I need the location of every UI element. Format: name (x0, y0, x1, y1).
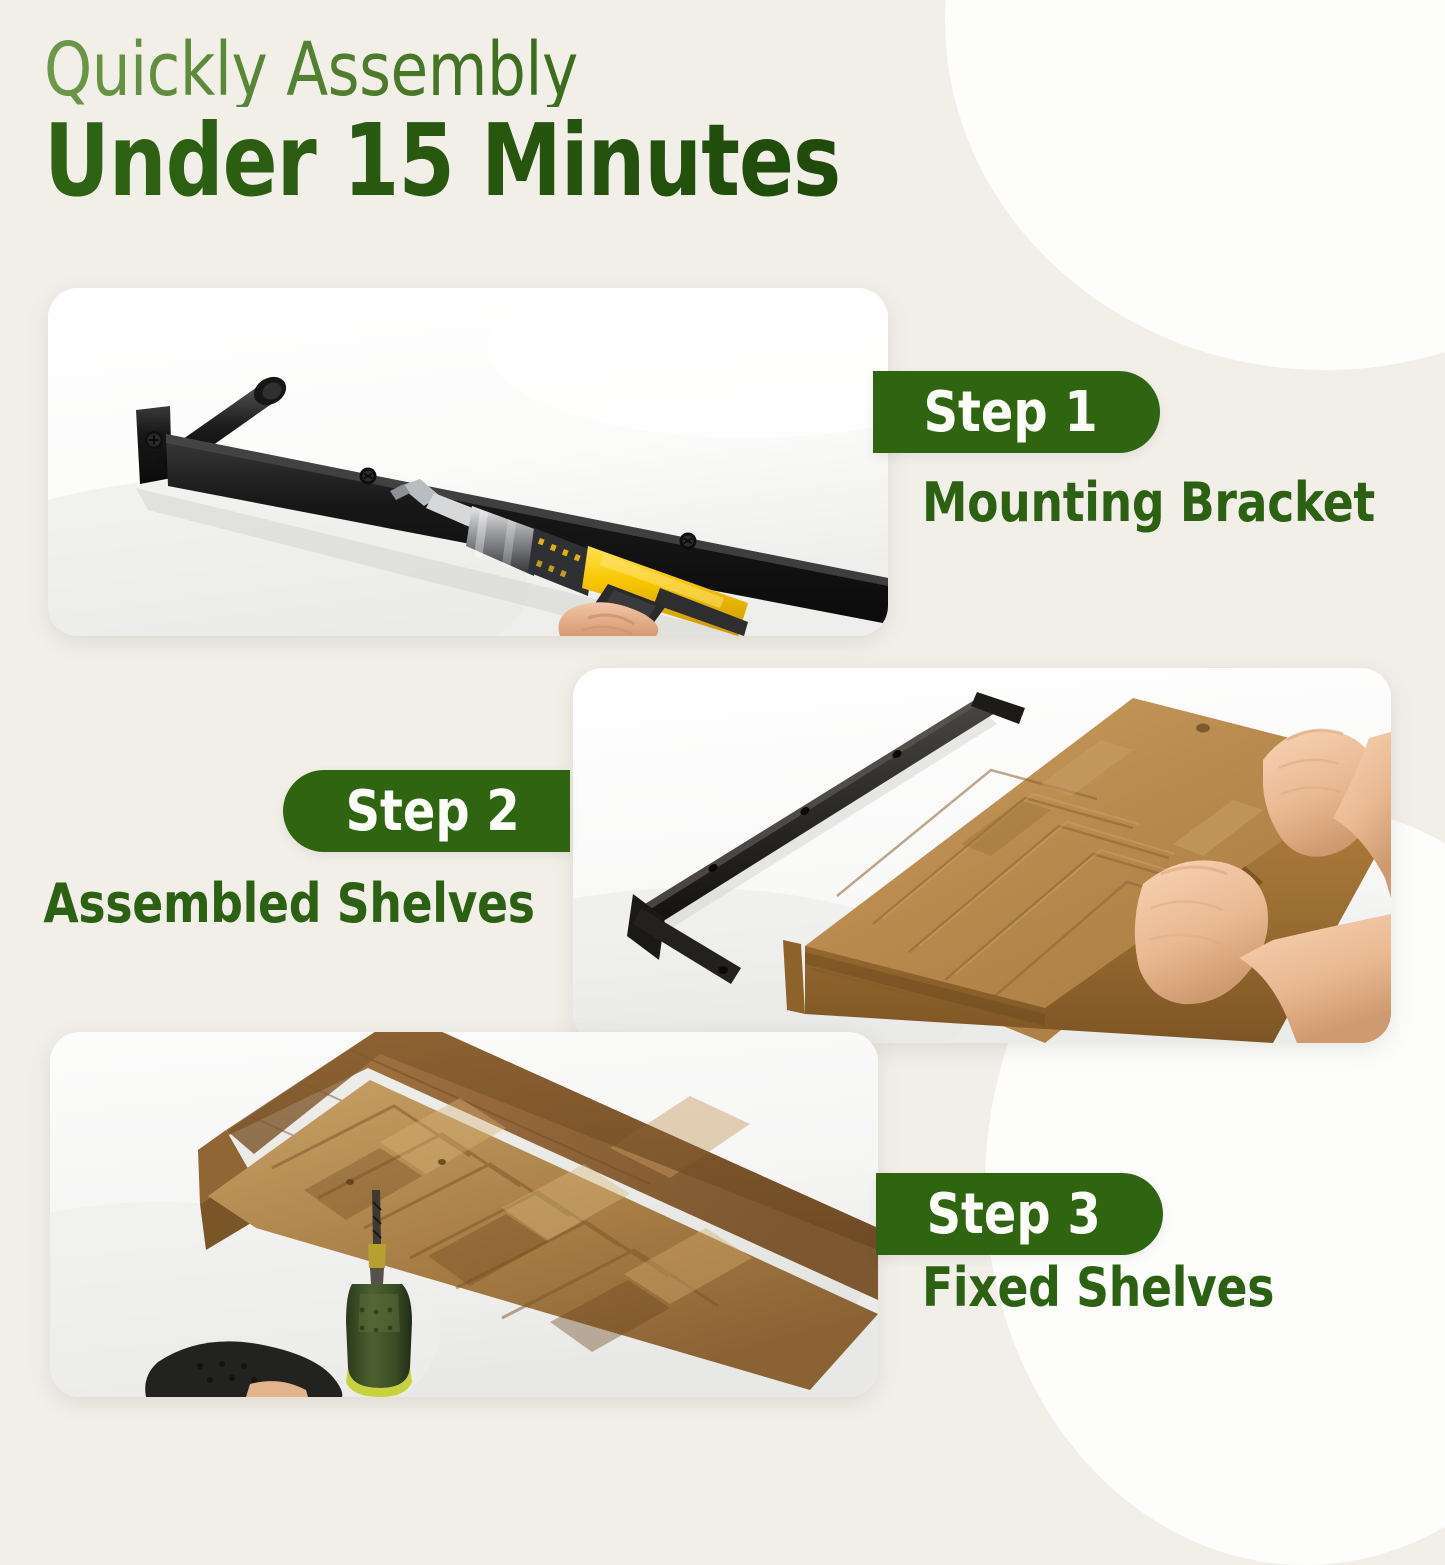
photo-mounting-bracket-with-drill (48, 288, 888, 636)
page-title: Under 15 Minutes (44, 113, 840, 209)
step-3-badge: Step 3 (876, 1173, 1163, 1255)
page-subtitle: Quickly Assembly (44, 34, 858, 107)
step-1-caption: Mounting Bracket (922, 471, 1375, 534)
photo-fixed-shelf-underside (50, 1032, 878, 1397)
step-3-badge-label: Step 3 (927, 1182, 1101, 1247)
photo-assembled-shelf-on-bracket (573, 668, 1391, 1043)
step-3-image-card (50, 1032, 878, 1397)
infographic-root: Quickly Assembly Under 15 Minutes (0, 0, 1445, 1445)
step-2-image-card (573, 668, 1391, 1043)
step-3-caption: Fixed Shelves (922, 1256, 1274, 1319)
step-2-caption: Assembled Shelves (44, 872, 535, 935)
step-1-badge: Step 1 (873, 371, 1160, 453)
step-2-badge: Step 2 (283, 770, 570, 852)
step-2-badge-label: Step 2 (346, 779, 520, 844)
page-title-block: Quickly Assembly Under 15 Minutes (44, 34, 929, 209)
step-1-badge-label: Step 1 (924, 380, 1098, 445)
step-1-image-card (48, 288, 888, 636)
